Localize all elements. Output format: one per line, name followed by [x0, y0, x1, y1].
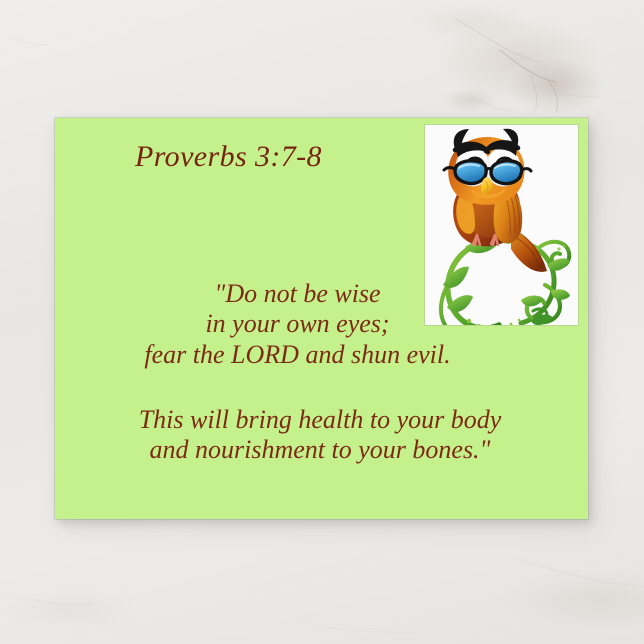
verse-part-two: This will bring health to your body and …: [55, 405, 585, 466]
postcard: Proverbs 3:7-8 "Do not be wise in your o…: [55, 118, 588, 519]
page-title: Proverbs 3:7-8: [135, 140, 322, 174]
vine-decoration: [441, 240, 570, 325]
verse-line: fear the LORD and shun evil.: [55, 340, 540, 370]
verse-line: This will bring health to your body: [55, 405, 585, 435]
screenshot-stage: Proverbs 3:7-8 "Do not be wise in your o…: [0, 0, 644, 644]
verse-line: and nourishment to your bones.": [55, 435, 585, 465]
owl-body: [444, 129, 547, 272]
owl-with-glasses-icon: [425, 125, 578, 325]
owl-image: [425, 125, 578, 325]
